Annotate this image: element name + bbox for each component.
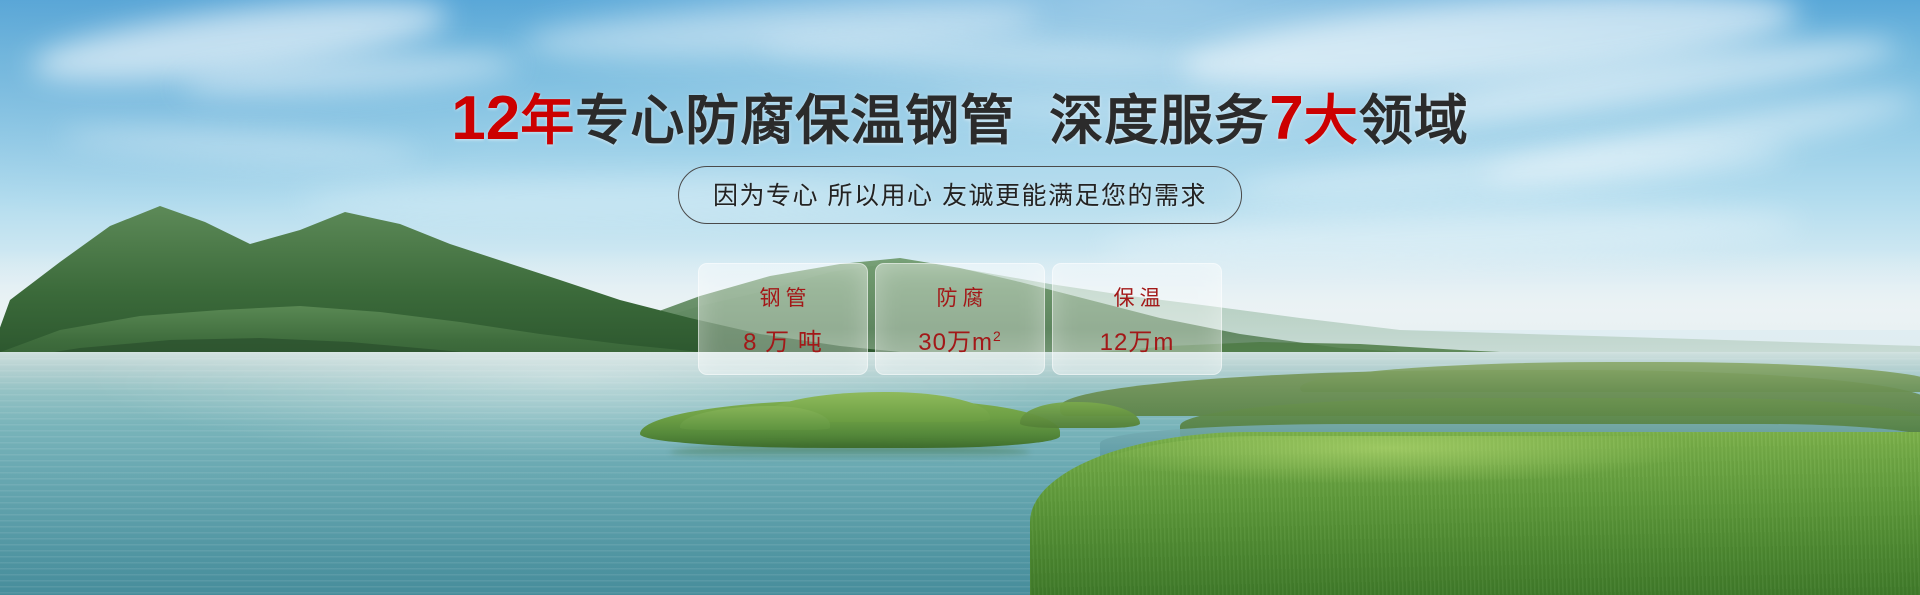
headline-main-text: 专心防腐保温钢管 bbox=[575, 91, 1015, 151]
stat-card-label: 钢管 bbox=[755, 282, 812, 312]
banner-content: 12年专心防腐保温钢管深度服务7大领域 因为专心 所以用心 友诚更能满足您的需求… bbox=[0, 0, 1920, 595]
banner-subtitle-pill: 因为专心 所以用心 友诚更能满足您的需求 bbox=[678, 166, 1242, 224]
stat-value-text: 12万m bbox=[1100, 329, 1175, 356]
headline-highlight-number: 7 bbox=[1269, 84, 1303, 153]
stat-card-value: 12万m bbox=[1100, 322, 1175, 357]
stat-card: 保温 12万m bbox=[1052, 263, 1222, 375]
stat-value-superscript: 2 bbox=[993, 328, 1002, 344]
stat-card-value: 30万m2 bbox=[918, 322, 1001, 357]
stat-value-text: 30万m bbox=[918, 329, 993, 356]
stat-card: 钢管 8 万 吨 bbox=[698, 263, 868, 375]
headline-years-number: 12 bbox=[451, 84, 520, 153]
headline-second-text: 深度服务 bbox=[1049, 91, 1269, 151]
stat-card-label: 防腐 bbox=[932, 282, 989, 312]
stat-card-group: 钢管 8 万 吨 防腐 30万m2 保温 12万m bbox=[698, 263, 1222, 375]
headline-years-suffix: 年 bbox=[520, 91, 575, 151]
stat-card-value: 8 万 吨 bbox=[743, 322, 823, 357]
stat-value-text: 8 万 吨 bbox=[743, 329, 823, 356]
banner-headline: 12年专心防腐保温钢管深度服务7大领域 bbox=[0, 90, 1920, 150]
headline-highlight-suffix: 大 bbox=[1304, 91, 1359, 151]
stat-card: 防腐 30万m2 bbox=[875, 263, 1045, 375]
hero-banner: 12年专心防腐保温钢管深度服务7大领域 因为专心 所以用心 友诚更能满足您的需求… bbox=[0, 0, 1920, 595]
stat-card-label: 保温 bbox=[1109, 282, 1166, 312]
headline-tail-text: 领域 bbox=[1359, 91, 1469, 151]
